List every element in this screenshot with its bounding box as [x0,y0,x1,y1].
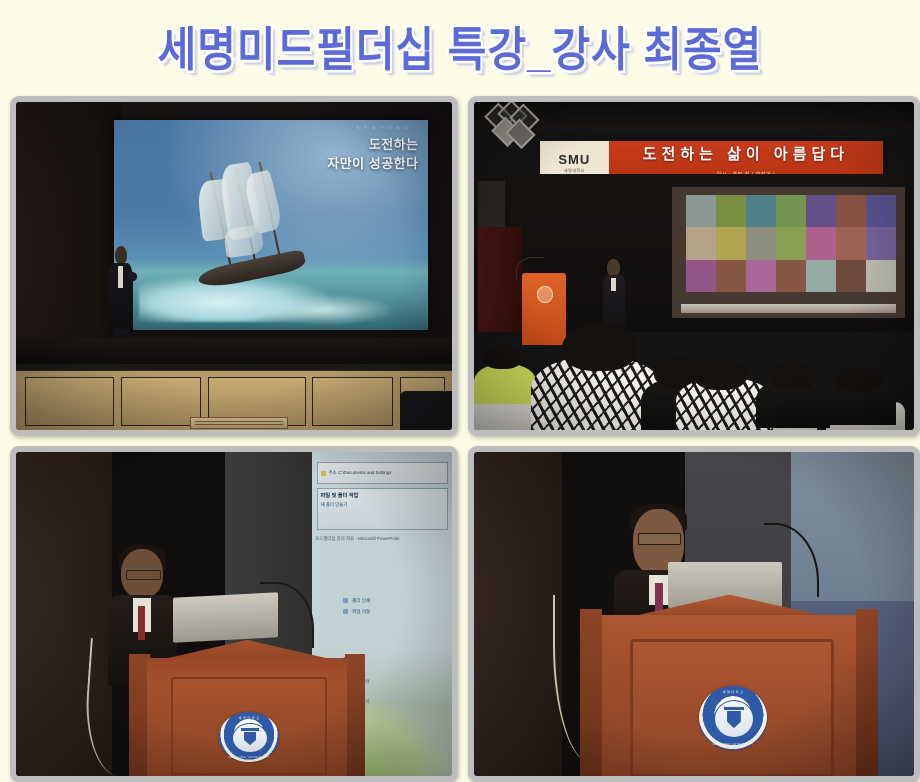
page-title-bar: 세명미드필더십 특강_강사 최종열 [0,0,920,92]
seal-arc-bottom: SEMYUNG UNIVERSITY [699,742,767,746]
color-block [806,227,836,259]
seal-inner [232,723,268,753]
photo-frame-stage-slide[interactable]: S E M Y U N G 도전하는 자만이 성공한다 [10,96,458,436]
page-title: 세명미드필더십 특강_강사 최종열 [158,12,763,80]
seal-book-bar [724,707,744,710]
color-block [776,195,806,227]
explorer-action-list: 폴더 인쇄 파일 이동 [343,598,441,620]
photo-frame-auditorium[interactable]: SMU 세명대학교 도전하는 삶이 아름답다 일시 : 총장 최 ( 학장과 )… [468,96,920,436]
action-row: 파일 이동 [343,609,441,615]
seal-inner [714,700,754,738]
action-row: 폴더 인쇄 [343,598,441,604]
eyeglasses-icon [126,570,161,580]
podium-seal [537,286,553,304]
speaker-shirt [118,266,123,287]
folder-icon [321,471,326,476]
podium-microphone [516,257,543,280]
wood-panel [312,377,392,426]
explorer-task-panel: 파일 및 폴더 작업 새 폴더 만들기 [317,488,448,530]
color-block [686,227,716,259]
smu-logo-subtext: 세명대학교 [564,168,585,174]
banner-headline: 도전하는 삶이 아름답다 [609,143,884,164]
color-block [716,227,746,259]
podium-body: 세 명 대 학 교 SEMYUNG UNIVERSITY [147,658,347,776]
color-block [746,227,776,259]
photo-frame-podium-projection[interactable]: 주소 C:\Documents and Settings 파일 및 폴더 작업 … [10,446,458,782]
seal-arc-bottom: SEMYUNG UNIVERSITY [219,755,279,759]
photo-stage-slide: S E M Y U N G 도전하는 자만이 성공한다 [16,102,452,430]
stage-floor [16,338,452,364]
slide-headline-line1: 도전하는 [327,135,418,155]
university-seal: 세 명 대 학 교 SEMYUNG UNIVERSITY [699,686,767,751]
audience-area [474,312,914,430]
smu-logo-text: SMU [558,153,590,166]
wood-panel [25,377,114,426]
audience-head [769,362,817,390]
color-block [716,260,746,292]
projection-screen: S E M Y U N G 도전하는 자만이 성공한다 [114,120,428,330]
equipment-case [400,391,452,430]
task-panel-title: 파일 및 폴더 작업 [321,492,444,499]
move-icon [343,609,348,614]
slide-small-text: S E M Y U N G [356,125,409,130]
audience-head [694,359,747,390]
print-icon [343,598,348,603]
color-block [686,195,716,227]
color-block [686,260,716,292]
audience-head [483,345,523,369]
audience-head [835,366,883,392]
color-block [716,195,746,227]
audience-member [474,364,536,404]
task-panel-item: 새 폴더 만들기 [321,502,444,508]
slide-wave-foam-2 [252,294,396,325]
podium-body: 세 명 대 학 교 SEMYUNG UNIVERSITY [602,615,855,776]
university-seal: 세 명 대 학 교 SEMYUNG UNIVERSITY [219,712,279,762]
seal-arc-top: 세 명 대 학 교 [699,690,767,694]
audience-head [562,324,637,371]
seal-arc-top: 세 명 대 학 교 [219,716,279,720]
slide-headline: 도전하는 자만이 성공한다 [327,135,418,174]
explorer-address-bar: 주소 C:\Documents and Settings [317,462,448,485]
lecturer-shirt [611,278,616,291]
wooden-podium: 세 명 대 학 교 SEMYUNG UNIVERSITY [588,595,870,776]
color-block [836,260,866,292]
color-block [836,227,866,259]
wooden-crate [190,417,288,429]
photo-podium-closeup: 세 명 대 학 교 SEMYUNG UNIVERSITY [474,452,914,776]
seal-shield [244,732,256,745]
photo-frame-podium-closeup[interactable]: 세 명 대 학 교 SEMYUNG UNIVERSITY [468,446,920,782]
color-block [866,227,896,259]
ceiling-light-truss-icon [487,105,544,151]
color-block [836,195,866,227]
side-wall-panel [478,181,504,233]
photo-auditorium-audience: SMU 세명대학교 도전하는 삶이 아름답다 일시 : 총장 최 ( 학장과 )… [474,102,914,430]
photo-podium-projection: 주소 C:\Documents and Settings 파일 및 폴더 작업 … [16,452,452,776]
color-block [806,260,836,292]
seal-shield [727,711,741,728]
lecturer-head [607,259,620,276]
slide-headline-line2: 자만이 성공한다 [327,154,418,174]
action-label: 폴더 인쇄 [352,598,370,604]
projection-screen [672,187,905,318]
eyeglasses-icon [638,533,681,545]
color-block [806,195,836,227]
podium-side-wing [580,609,603,776]
color-block [776,260,806,292]
color-block [746,195,776,227]
podium-side-wing [856,609,879,776]
color-test-blocks [686,195,896,292]
color-block [776,227,806,259]
sailing-ship-graphic [171,146,321,299]
speaker-tie [138,606,144,640]
color-block [866,260,896,292]
wooden-podium: 세 명 대 학 교 SEMYUNG UNIVERSITY [134,640,361,776]
color-block [866,195,896,227]
podium-side-wing [345,654,365,776]
photo-collage-grid: S E M Y U N G 도전하는 자만이 성공한다 [0,92,920,780]
wood-panel [121,377,201,426]
stage-front-wall [16,364,452,430]
explorer-address-text: 주소 C:\Documents and Settings [329,470,392,476]
color-block [746,260,776,292]
action-label: 파일 이동 [352,609,370,615]
seal-book-bar [241,728,258,731]
powerpoint-window-title: 모드필더십 강의 자료 - Microsoft PowerPoint [315,536,449,542]
wall-left [474,452,562,776]
